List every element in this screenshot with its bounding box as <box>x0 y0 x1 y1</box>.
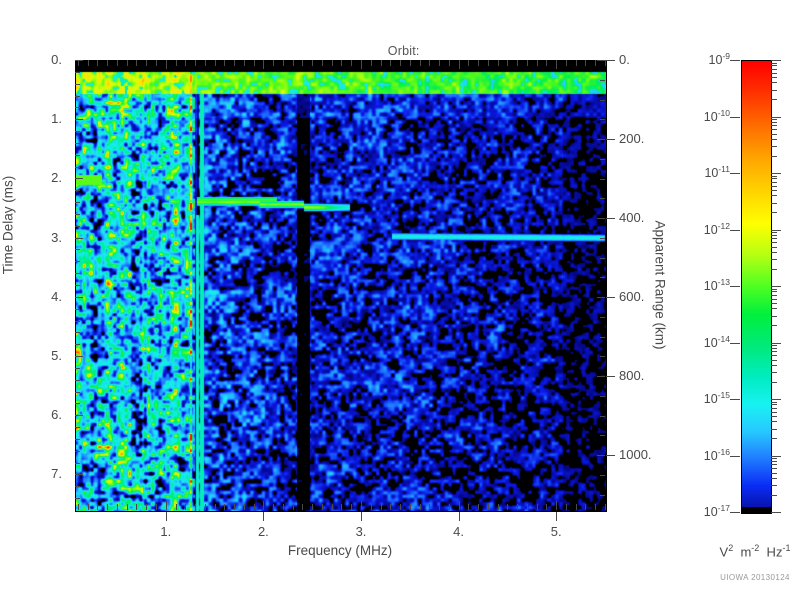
y-left-tick[interactable] <box>75 96 80 97</box>
x-tick[interactable] <box>312 504 313 510</box>
x-tick[interactable] <box>371 504 372 510</box>
y-right-tick-outer[interactable] <box>606 455 615 456</box>
x-tick-top[interactable] <box>302 60 303 66</box>
x-tick-top[interactable] <box>381 60 382 66</box>
colorbar-minor-tick[interactable] <box>771 134 777 135</box>
colorbar-minor-tick[interactable] <box>771 412 777 413</box>
x-tick[interactable] <box>78 504 79 510</box>
colorbar-minor-tick[interactable] <box>771 178 777 179</box>
colorbar-tick-mantissa: 10 <box>704 336 718 350</box>
colorbar-minor-tick[interactable] <box>771 291 777 292</box>
colorbar-minor-tick[interactable] <box>771 289 777 290</box>
y-right-tick-label[interactable]: 0. <box>619 52 630 67</box>
colorbar-minor-tick[interactable] <box>771 421 777 422</box>
x-tick[interactable] <box>127 504 128 510</box>
y-left-tick-label[interactable]: 4. <box>0 289 62 304</box>
y-right-tick[interactable] <box>600 396 605 397</box>
x-tick-top[interactable] <box>420 60 421 66</box>
x-tick[interactable] <box>400 504 401 510</box>
x-tick[interactable] <box>146 504 147 510</box>
colorbar-major-tick[interactable] <box>771 343 781 344</box>
y-left-tick[interactable] <box>75 368 80 369</box>
colorbar-major-tick-left[interactable] <box>730 117 740 118</box>
x-tick[interactable] <box>341 504 342 510</box>
colorbar-major-tick-left[interactable] <box>730 286 740 287</box>
x-tick-outer[interactable] <box>556 512 557 521</box>
x-tick-label[interactable]: 3. <box>341 524 381 539</box>
y-right-tick[interactable] <box>600 317 605 318</box>
x-tick-top[interactable] <box>127 60 128 66</box>
y-left-tick-label[interactable]: 0. <box>0 52 62 67</box>
colorbar-minor-tick[interactable] <box>771 203 777 204</box>
y-left-tick-label[interactable]: 7. <box>0 466 62 481</box>
colorbar-tick-mantissa: 10 <box>704 505 718 519</box>
colorbar-minor-tick[interactable] <box>771 212 777 213</box>
y-right-tick[interactable] <box>600 495 605 496</box>
x-tick[interactable] <box>293 504 294 510</box>
x-tick-top[interactable] <box>410 60 411 66</box>
y-right-tick[interactable] <box>600 416 605 417</box>
y-right-tick-label[interactable]: 200. <box>619 131 644 146</box>
y-left-tick[interactable] <box>75 451 80 452</box>
colorbar-major-tick-left[interactable] <box>730 512 740 513</box>
x-tick[interactable] <box>273 504 274 510</box>
x-tick-top[interactable] <box>312 60 313 66</box>
x-tick-top[interactable] <box>576 60 577 66</box>
x-tick[interactable] <box>468 504 469 510</box>
y-right-tick-label[interactable]: 400. <box>619 210 644 225</box>
ionogram-heatmap-canvas <box>76 61 606 511</box>
x-tick[interactable] <box>283 504 284 510</box>
x-tick-top[interactable] <box>185 60 186 66</box>
x-tick-top[interactable] <box>224 60 225 66</box>
colorbar-minor-tick[interactable] <box>771 485 777 486</box>
colorbar-minor-tick[interactable] <box>771 303 777 304</box>
y-right-tick-outer[interactable] <box>606 139 615 140</box>
x-tick-top[interactable] <box>537 60 538 66</box>
x-tick-outer[interactable] <box>263 512 264 521</box>
x-tick-outer[interactable] <box>459 512 460 521</box>
x-tick[interactable] <box>88 504 89 510</box>
y-left-tick[interactable] <box>75 167 80 168</box>
x-tick[interactable] <box>254 504 255 510</box>
colorbar-minor-tick[interactable] <box>771 478 777 479</box>
x-tick-top[interactable] <box>566 60 567 66</box>
x-tick-top[interactable] <box>478 60 479 66</box>
x-tick[interactable] <box>185 504 186 510</box>
y-left-tick-label[interactable]: 5. <box>0 348 62 363</box>
x-tick[interactable] <box>449 504 450 510</box>
colorbar-minor-tick[interactable] <box>771 429 777 430</box>
y-axis-right-label: Apparent Range (km) <box>653 220 668 349</box>
x-tick[interactable] <box>136 504 137 510</box>
x-tick-top[interactable] <box>341 60 342 66</box>
colorbar-minor-tick[interactable] <box>771 195 777 196</box>
x-tick[interactable] <box>322 504 323 510</box>
y-right-tick-outer[interactable] <box>606 376 615 377</box>
colorbar-minor-tick[interactable] <box>771 186 777 187</box>
colorbar-tick-mantissa: 10 <box>704 279 718 293</box>
x-tick-top[interactable] <box>546 60 547 66</box>
y-right-tick[interactable] <box>600 277 605 278</box>
colorbar-tick-mantissa: 10 <box>704 166 718 180</box>
x-tick-top[interactable] <box>371 60 372 66</box>
y-left-tick[interactable] <box>75 226 80 227</box>
colorbar-minor-tick[interactable] <box>771 259 777 260</box>
y-left-tick-label[interactable]: 6. <box>0 407 62 422</box>
colorbar-minor-tick[interactable] <box>771 351 777 352</box>
x-tick[interactable] <box>351 504 352 510</box>
y-left-tick[interactable] <box>75 498 80 499</box>
y-left-tick[interactable] <box>75 439 80 440</box>
x-tick-outer[interactable] <box>166 512 167 521</box>
y-left-tick[interactable] <box>75 60 83 61</box>
y-right-tick[interactable] <box>600 179 605 180</box>
colorbar-minor-tick[interactable] <box>771 77 777 78</box>
x-tick-top[interactable] <box>332 60 333 66</box>
colorbar-major-tick-left[interactable] <box>730 456 740 457</box>
colorbar-minor-tick[interactable] <box>771 82 777 83</box>
y-right-tick-outer[interactable] <box>606 297 615 298</box>
y-left-tick[interactable] <box>75 392 80 393</box>
colorbar-gradient <box>742 61 771 513</box>
colorbar-minor-tick[interactable] <box>771 119 777 120</box>
colorbar-major-tick-left[interactable] <box>730 343 740 344</box>
x-tick-top[interactable] <box>390 60 391 66</box>
y-right-tick[interactable] <box>600 100 605 101</box>
y-right-tick[interactable] <box>597 297 605 298</box>
colorbar-minor-tick[interactable] <box>771 156 777 157</box>
y-left-tick[interactable] <box>75 285 80 286</box>
x-tick-top[interactable] <box>507 60 508 66</box>
x-tick-top[interactable] <box>605 60 606 66</box>
x-tick[interactable] <box>361 501 362 510</box>
x-tick[interactable] <box>117 504 118 510</box>
x-tick[interactable] <box>244 504 245 510</box>
y-left-tick-label[interactable]: 1. <box>0 111 62 126</box>
x-tick-top[interactable] <box>449 60 450 66</box>
x-tick[interactable] <box>459 501 460 510</box>
x-tick[interactable] <box>215 504 216 510</box>
y-left-tick[interactable] <box>75 427 80 428</box>
x-tick-top[interactable] <box>136 60 137 66</box>
y-left-tick[interactable] <box>75 380 80 381</box>
y-right-tick[interactable] <box>600 80 605 81</box>
units-m-exp: -2 <box>751 543 759 553</box>
x-tick-top[interactable] <box>585 60 586 66</box>
colorbar-major-tick-left[interactable] <box>730 230 740 231</box>
colorbar-tick-label: 10-17 <box>672 503 730 519</box>
y-right-tick-label[interactable]: 1000. <box>619 447 652 462</box>
colorbar-minor-tick[interactable] <box>771 139 777 140</box>
x-tick[interactable] <box>507 504 508 510</box>
y-left-tick[interactable] <box>75 190 80 191</box>
x-tick-top[interactable] <box>468 60 469 66</box>
x-tick-top[interactable] <box>429 60 430 66</box>
colorbar-minor-tick[interactable] <box>771 316 777 317</box>
y-left-tick[interactable] <box>75 403 80 404</box>
y-right-tick-outer[interactable] <box>606 60 615 61</box>
x-tick[interactable] <box>556 501 557 510</box>
colorbar-floor-swatch <box>742 507 771 513</box>
colorbar-minor-tick[interactable] <box>771 355 777 356</box>
colorbar-minor-tick[interactable] <box>771 464 777 465</box>
colorbar-tick-label: 10-11 <box>672 164 730 180</box>
x-tick-top[interactable] <box>459 60 460 69</box>
colorbar-major-tick[interactable] <box>771 286 781 287</box>
y-left-tick[interactable] <box>75 474 83 475</box>
x-tick-top[interactable] <box>88 60 89 66</box>
colorbar-minor-tick[interactable] <box>771 90 777 91</box>
x-tick-top[interactable] <box>556 60 557 69</box>
colorbar-minor-tick[interactable] <box>771 269 777 270</box>
colorbar-minor-tick[interactable] <box>771 348 777 349</box>
colorbar-minor-tick[interactable] <box>771 360 777 361</box>
y-right-tick[interactable] <box>597 455 605 456</box>
x-tick[interactable] <box>498 504 499 510</box>
y-left-tick[interactable] <box>75 84 80 85</box>
colorbar-minor-tick[interactable] <box>771 182 777 183</box>
y-left-tick[interactable] <box>75 356 83 357</box>
colorbar-minor-tick[interactable] <box>771 122 777 123</box>
colorbar-minor-tick[interactable] <box>771 242 777 243</box>
y-right-tick[interactable] <box>600 475 605 476</box>
colorbar-tick-exponent: -17 <box>718 503 730 513</box>
x-tick-top[interactable] <box>361 60 362 69</box>
x-tick-top[interactable] <box>400 60 401 66</box>
x-tick[interactable] <box>517 504 518 510</box>
x-tick-top[interactable] <box>166 60 167 69</box>
x-tick[interactable] <box>566 504 567 510</box>
x-tick[interactable] <box>234 504 235 510</box>
x-tick[interactable] <box>527 504 528 510</box>
colorbar-minor-tick[interactable] <box>771 416 777 417</box>
ionogram-plot-area <box>75 60 607 512</box>
y-right-tick[interactable] <box>600 159 605 160</box>
colorbar-minor-tick[interactable] <box>771 382 777 383</box>
x-tick[interactable] <box>176 504 177 510</box>
x-tick[interactable] <box>166 501 167 510</box>
colorbar-major-tick-left[interactable] <box>730 399 740 400</box>
x-tick[interactable] <box>429 504 430 510</box>
y-right-tick[interactable] <box>597 139 605 140</box>
x-tick-outer[interactable] <box>361 512 362 521</box>
colorbar-minor-tick[interactable] <box>771 129 777 130</box>
x-tick[interactable] <box>332 504 333 510</box>
x-tick[interactable] <box>546 504 547 510</box>
x-tick-top[interactable] <box>195 60 196 66</box>
colorbar-minor-tick[interactable] <box>771 372 777 373</box>
y-left-tick[interactable] <box>75 119 83 120</box>
x-tick[interactable] <box>195 504 196 510</box>
x-tick-top[interactable] <box>595 60 596 66</box>
y-left-tick[interactable] <box>75 344 80 345</box>
y-left-tick[interactable] <box>75 273 80 274</box>
x-tick-top[interactable] <box>234 60 235 66</box>
x-tick[interactable] <box>410 504 411 510</box>
x-tick-top[interactable] <box>254 60 255 66</box>
colorbar-minor-tick[interactable] <box>771 238 777 239</box>
colorbar-tick-exponent: -16 <box>718 447 730 457</box>
colorbar-minor-tick[interactable] <box>771 325 777 326</box>
colorbar-minor-tick[interactable] <box>771 232 777 233</box>
y-left-tick[interactable] <box>75 155 80 156</box>
y-left-tick[interactable] <box>75 214 80 215</box>
y-left-tick[interactable] <box>75 131 80 132</box>
colorbar-minor-tick[interactable] <box>771 252 777 253</box>
colorbar-tick-mantissa: 10 <box>704 392 718 406</box>
y-left-tick[interactable] <box>75 309 80 310</box>
y-right-tick[interactable] <box>600 435 605 436</box>
x-tick[interactable] <box>595 504 596 510</box>
colorbar-minor-tick[interactable] <box>771 473 777 474</box>
colorbar-minor-tick[interactable] <box>771 63 777 64</box>
y-left-tick[interactable] <box>75 202 80 203</box>
units-v: V <box>720 544 729 559</box>
x-tick-top[interactable] <box>273 60 274 66</box>
x-tick-top[interactable] <box>517 60 518 66</box>
y-left-tick[interactable] <box>75 107 80 108</box>
colorbar-minor-tick[interactable] <box>771 408 777 409</box>
x-tick-label[interactable]: 4. <box>439 524 479 539</box>
colorbar-minor-tick[interactable] <box>771 99 777 100</box>
y-right-tick[interactable] <box>600 198 605 199</box>
colorbar-minor-tick[interactable] <box>771 125 777 126</box>
y-right-tick-label[interactable]: 800. <box>619 368 644 383</box>
x-tick[interactable] <box>439 504 440 510</box>
x-tick-top[interactable] <box>351 60 352 66</box>
y-left-tick[interactable] <box>75 249 80 250</box>
colorbar-minor-tick[interactable] <box>771 73 777 74</box>
colorbar-minor-tick[interactable] <box>771 402 777 403</box>
colorbar-major-tick[interactable] <box>771 60 781 61</box>
x-tick-top[interactable] <box>283 60 284 66</box>
x-tick[interactable] <box>224 504 225 510</box>
y-left-tick[interactable] <box>75 178 83 179</box>
colorbar-minor-tick[interactable] <box>771 365 777 366</box>
x-tick[interactable] <box>390 504 391 510</box>
colorbar-minor-tick[interactable] <box>771 235 777 236</box>
colorbar-minor-tick[interactable] <box>771 176 777 177</box>
colorbar-major-tick[interactable] <box>771 456 781 457</box>
colorbar-major-tick[interactable] <box>771 512 781 513</box>
y-left-tick[interactable] <box>75 261 80 262</box>
x-tick-label[interactable]: 2. <box>243 524 283 539</box>
colorbar-major-tick[interactable] <box>771 117 781 118</box>
x-tick[interactable] <box>107 504 108 510</box>
colorbar-minor-tick[interactable] <box>771 247 777 248</box>
x-tick[interactable] <box>605 504 606 510</box>
colorbar-tick-exponent: -9 <box>722 51 730 61</box>
y-right-tick[interactable] <box>597 218 605 219</box>
x-tick[interactable] <box>156 504 157 510</box>
colorbar-minor-tick[interactable] <box>771 495 777 496</box>
colorbar-minor-tick[interactable] <box>771 345 777 346</box>
x-tick-top[interactable] <box>527 60 528 66</box>
x-tick[interactable] <box>576 504 577 510</box>
x-tick-top[interactable] <box>205 60 206 66</box>
x-tick-top[interactable] <box>117 60 118 66</box>
colorbar-minor-tick[interactable] <box>771 295 777 296</box>
x-tick[interactable] <box>381 504 382 510</box>
x-tick-top[interactable] <box>263 60 264 69</box>
y-left-tick[interactable] <box>75 332 80 333</box>
colorbar-minor-tick[interactable] <box>771 190 777 191</box>
x-tick[interactable] <box>420 504 421 510</box>
y-left-tick[interactable] <box>75 463 80 464</box>
y-left-tick[interactable] <box>75 143 80 144</box>
x-tick[interactable] <box>205 504 206 510</box>
y-left-tick[interactable] <box>75 321 80 322</box>
y-right-tick[interactable] <box>600 337 605 338</box>
y-right-tick[interactable] <box>600 119 605 120</box>
x-tick-top[interactable] <box>176 60 177 66</box>
x-tick[interactable] <box>263 501 264 510</box>
colorbar-minor-tick[interactable] <box>771 299 777 300</box>
y-left-tick[interactable] <box>75 297 83 298</box>
y-right-tick[interactable] <box>597 376 605 377</box>
x-tick[interactable] <box>478 504 479 510</box>
x-tick-top[interactable] <box>146 60 147 66</box>
colorbar-minor-tick[interactable] <box>771 65 777 66</box>
x-tick[interactable] <box>488 504 489 510</box>
y-left-tick[interactable] <box>75 486 80 487</box>
x-tick-top[interactable] <box>97 60 98 66</box>
y-right-tick[interactable] <box>597 60 605 61</box>
y-right-tick-label[interactable]: 600. <box>619 289 644 304</box>
y-right-tick[interactable] <box>600 258 605 259</box>
colorbar-minor-tick[interactable] <box>771 438 777 439</box>
x-tick[interactable] <box>585 504 586 510</box>
x-tick[interactable] <box>97 504 98 510</box>
x-tick-top[interactable] <box>107 60 108 66</box>
y-left-tick[interactable] <box>75 72 80 73</box>
colorbar-minor-tick[interactable] <box>771 458 777 459</box>
y-left-tick[interactable] <box>75 238 83 239</box>
x-tick-top[interactable] <box>322 60 323 66</box>
x-tick-top[interactable] <box>78 60 79 66</box>
y-right-tick[interactable] <box>600 238 605 239</box>
colorbar-major-tick-left[interactable] <box>730 173 740 174</box>
colorbar-minor-tick[interactable] <box>771 69 777 70</box>
x-tick-top[interactable] <box>488 60 489 66</box>
x-tick-label[interactable]: 1. <box>146 524 186 539</box>
x-tick-top[interactable] <box>293 60 294 66</box>
x-tick-top[interactable] <box>215 60 216 66</box>
x-tick[interactable] <box>302 504 303 510</box>
units-v-exp: 2 <box>728 543 733 553</box>
x-tick-top[interactable] <box>498 60 499 66</box>
colorbar-minor-tick[interactable] <box>771 461 777 462</box>
colorbar-major-tick[interactable] <box>771 399 781 400</box>
y-right-tick-outer[interactable] <box>606 218 615 219</box>
x-tick[interactable] <box>537 504 538 510</box>
x-tick-top[interactable] <box>244 60 245 66</box>
y-left-tick[interactable] <box>75 415 83 416</box>
x-tick-top[interactable] <box>439 60 440 66</box>
x-tick-top[interactable] <box>156 60 157 66</box>
colorbar-major-tick-left[interactable] <box>730 60 740 61</box>
x-tick-label[interactable]: 5. <box>536 524 576 539</box>
colorbar-major-tick[interactable] <box>771 173 781 174</box>
colorbar-major-tick[interactable] <box>771 230 781 231</box>
y-right-tick[interactable] <box>600 356 605 357</box>
colorbar-minor-tick[interactable] <box>771 308 777 309</box>
colorbar-minor-tick[interactable] <box>771 468 777 469</box>
colorbar-tick-label: 10-16 <box>672 447 730 463</box>
colorbar-minor-tick[interactable] <box>771 146 777 147</box>
colorbar-minor-tick[interactable] <box>771 404 777 405</box>
